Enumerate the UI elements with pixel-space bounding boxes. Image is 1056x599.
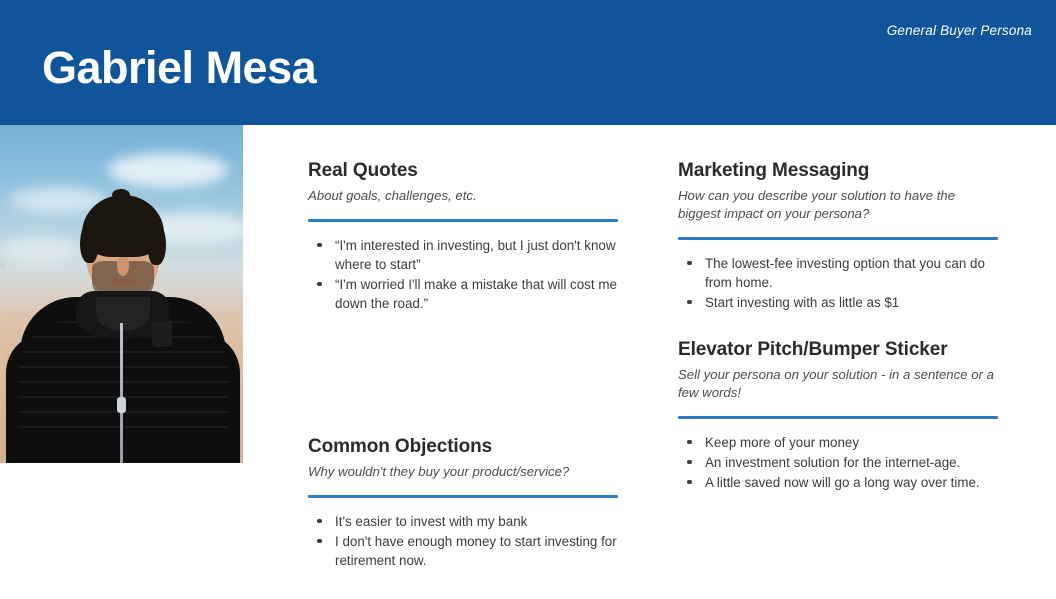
section-subtitle-common-objections: Why wouldn't they buy your product/servi… — [308, 463, 618, 481]
persona-portrait-photo — [0, 125, 243, 463]
list-item: A little saved now will go a long way ov… — [678, 473, 998, 492]
photo-zipper-pull — [117, 397, 126, 413]
list-item: Keep more of your money — [678, 433, 998, 452]
section-subtitle-elevator-pitch: Sell your persona on your solution - in … — [678, 366, 998, 402]
photo-jacket-tab — [152, 321, 172, 347]
bullet-list-common-objections: It's easier to invest with my bank I don… — [308, 512, 618, 570]
photo-hair-side-left — [80, 221, 98, 263]
section-elevator-pitch: Elevator Pitch/Bumper Sticker Sell your … — [678, 339, 998, 493]
photo-collar-shadow — [96, 297, 150, 331]
list-item: “I'm worried I'll make a mistake that wi… — [308, 275, 618, 313]
persona-slide: General Buyer Persona Gabriel Mesa — [0, 0, 1056, 599]
slide-header: General Buyer Persona Gabriel Mesa — [0, 0, 1056, 125]
photo-nose — [117, 256, 129, 276]
section-real-quotes: Real Quotes About goals, challenges, etc… — [308, 160, 618, 314]
list-item: The lowest-fee investing option that you… — [678, 254, 998, 292]
section-common-objections: Common Objections Why wouldn't they buy … — [308, 436, 618, 571]
photo-hair-side-right — [148, 221, 166, 265]
section-title-elevator-pitch: Elevator Pitch/Bumper Sticker — [678, 339, 998, 362]
list-item: Start investing with as little as $1 — [678, 293, 998, 312]
section-subtitle-marketing-messaging: How can you describe your solution to ha… — [678, 187, 998, 223]
section-subtitle-real-quotes: About goals, challenges, etc. — [308, 187, 618, 205]
section-title-marketing-messaging: Marketing Messaging — [678, 160, 998, 183]
page-title: Gabriel Mesa — [42, 44, 316, 91]
bullet-list-elevator-pitch: Keep more of your money An investment so… — [678, 433, 998, 492]
persona-type-label: General Buyer Persona — [887, 23, 1032, 38]
bullet-list-real-quotes: “I'm interested in investing, but I just… — [308, 236, 618, 313]
photo-jacket-zipper — [120, 323, 123, 463]
section-divider-real-quotes — [308, 219, 618, 222]
section-divider-marketing-messaging — [678, 237, 998, 240]
photo-person — [0, 125, 243, 463]
photo-hair-tuft — [112, 189, 130, 201]
list-item: “I'm interested in investing, but I just… — [308, 236, 618, 274]
section-divider-elevator-pitch — [678, 416, 998, 419]
list-item: It's easier to invest with my bank — [308, 512, 618, 531]
bullet-list-marketing-messaging: The lowest-fee investing option that you… — [678, 254, 998, 312]
section-title-common-objections: Common Objections — [308, 436, 618, 459]
list-item: An investment solution for the internet-… — [678, 453, 998, 472]
section-marketing-messaging: Marketing Messaging How can you describe… — [678, 160, 998, 313]
section-divider-common-objections — [308, 495, 618, 498]
section-title-real-quotes: Real Quotes — [308, 160, 618, 183]
list-item: I don't have enough money to start inves… — [308, 532, 618, 570]
photo-mouth — [112, 279, 134, 283]
